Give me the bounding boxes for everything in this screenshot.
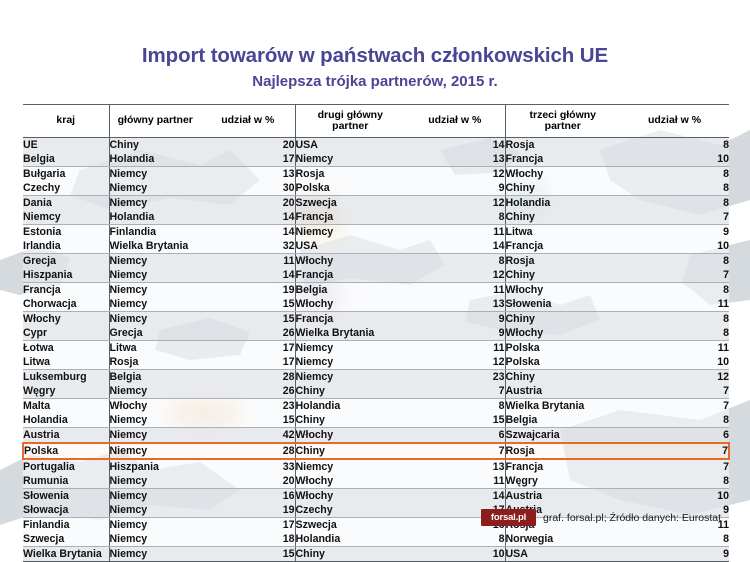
cell-partner-2: Włochy bbox=[295, 489, 405, 504]
table-row: RumuniaNiemcy20Włochy11Węgry8 bbox=[23, 474, 729, 489]
cell-partner-2: Chiny bbox=[295, 547, 405, 562]
cell-share-2: 9 bbox=[405, 326, 505, 341]
cell-partner-2: Włochy bbox=[295, 428, 405, 444]
cell-country: Bułgaria bbox=[23, 167, 109, 182]
cell-country: Belgia bbox=[23, 152, 109, 167]
cell-share-2: 11 bbox=[405, 341, 505, 356]
cell-share-2: 15 bbox=[405, 413, 505, 428]
cell-partner-1: Finlandia bbox=[109, 225, 201, 240]
cell-share-2: 8 bbox=[405, 210, 505, 225]
table-row: WłochyNiemcy15Francja9Chiny8 bbox=[23, 312, 729, 327]
cell-share-3: 8 bbox=[620, 138, 729, 153]
cell-share-3: 8 bbox=[620, 326, 729, 341]
cell-partner-3: Francja bbox=[505, 239, 620, 254]
cell-partner-3: Chiny bbox=[505, 268, 620, 283]
table-row: FrancjaNiemcy19Belgia11Włochy8 bbox=[23, 283, 729, 298]
cell-partner-1: Włochy bbox=[109, 399, 201, 414]
cell-share-1: 20 bbox=[201, 138, 295, 153]
cell-share-1: 42 bbox=[201, 428, 295, 444]
table-row: LuksemburgBelgia28Niemcy23Chiny12 bbox=[23, 370, 729, 385]
cell-share-2: 13 bbox=[405, 297, 505, 312]
table-row: WęgryNiemcy26Chiny7Austria7 bbox=[23, 384, 729, 399]
cell-share-3: 8 bbox=[620, 413, 729, 428]
cell-partner-2: Niemcy bbox=[295, 341, 405, 356]
cell-country: UE bbox=[23, 138, 109, 153]
source-credit: graf. forsal.pl; Źródło danych: Eurostat bbox=[543, 510, 721, 526]
cell-share-2: 11 bbox=[405, 283, 505, 298]
cell-country: Chorwacja bbox=[23, 297, 109, 312]
cell-share-3: 12 bbox=[620, 370, 729, 385]
table-head: kraj główny partner udział w % drugi głó… bbox=[23, 105, 729, 138]
table-row: GrecjaNiemcy11Włochy8Rosja8 bbox=[23, 254, 729, 269]
cell-share-2: 9 bbox=[405, 181, 505, 196]
cell-partner-2: Niemcy bbox=[295, 355, 405, 370]
table-row: ChorwacjaNiemcy15Włochy13Słowenia11 bbox=[23, 297, 729, 312]
cell-country: Malta bbox=[23, 399, 109, 414]
cell-partner-3: Węgry bbox=[505, 474, 620, 489]
cell-share-1: 11 bbox=[201, 254, 295, 269]
header-share-3: udział w % bbox=[620, 105, 729, 138]
cell-share-3: 8 bbox=[620, 181, 729, 196]
cell-share-3: 7 bbox=[620, 443, 729, 459]
cell-share-2: 9 bbox=[405, 312, 505, 327]
cell-share-3: 11 bbox=[620, 341, 729, 356]
cell-partner-1: Chiny bbox=[109, 138, 201, 153]
cell-partner-1: Niemcy bbox=[109, 297, 201, 312]
cell-partner-3: Rosja bbox=[505, 138, 620, 153]
cell-partner-2: Chiny bbox=[295, 443, 405, 459]
table-row: CzechyNiemcy30Polska9Chiny8 bbox=[23, 181, 729, 196]
cell-partner-2: Szwecja bbox=[295, 196, 405, 211]
cell-partner-3: Holandia bbox=[505, 196, 620, 211]
cell-share-2: 13 bbox=[405, 459, 505, 474]
cell-partner-3: USA bbox=[505, 547, 620, 562]
cell-partner-1: Holandia bbox=[109, 152, 201, 167]
table-row: Wielka BrytaniaNiemcy15Chiny10USA9 bbox=[23, 547, 729, 562]
cell-partner-1: Rosja bbox=[109, 355, 201, 370]
cell-partner-2: Włochy bbox=[295, 474, 405, 489]
cell-partner-2: Włochy bbox=[295, 297, 405, 312]
table-row: CyprGrecja26Wielka Brytania9Włochy8 bbox=[23, 326, 729, 341]
cell-partner-2: Polska bbox=[295, 181, 405, 196]
cell-partner-3: Włochy bbox=[505, 167, 620, 182]
cell-partner-3: Rosja bbox=[505, 254, 620, 269]
cell-partner-1: Niemcy bbox=[109, 428, 201, 444]
cell-share-1: 17 bbox=[201, 152, 295, 167]
page-title: Import towarów w państwach członkowskich… bbox=[0, 44, 750, 68]
cell-share-1: 14 bbox=[201, 210, 295, 225]
cell-share-1: 23 bbox=[201, 399, 295, 414]
cell-share-2: 8 bbox=[405, 254, 505, 269]
cell-share-1: 14 bbox=[201, 268, 295, 283]
header-share-2: udział w % bbox=[405, 105, 505, 138]
table-row: DaniaNiemcy20Szwecja12Holandia8 bbox=[23, 196, 729, 211]
cell-share-3: 8 bbox=[620, 283, 729, 298]
cell-share-2: 13 bbox=[405, 152, 505, 167]
cell-share-2: 12 bbox=[405, 355, 505, 370]
cell-partner-2: Niemcy bbox=[295, 459, 405, 474]
cell-partner-2: Chiny bbox=[295, 413, 405, 428]
table-row: HolandiaNiemcy15Chiny15Belgia8 bbox=[23, 413, 729, 428]
cell-partner-3: Polska bbox=[505, 341, 620, 356]
cell-country: Łotwa bbox=[23, 341, 109, 356]
cell-share-1: 15 bbox=[201, 413, 295, 428]
cell-partner-1: Grecja bbox=[109, 326, 201, 341]
cell-country: Grecja bbox=[23, 254, 109, 269]
cell-share-2: 14 bbox=[405, 138, 505, 153]
header-partner-1: główny partner bbox=[109, 105, 201, 138]
cell-share-3: 8 bbox=[620, 312, 729, 327]
cell-partner-3: Chiny bbox=[505, 181, 620, 196]
cell-partner-3: Chiny bbox=[505, 370, 620, 385]
cell-share-3: 7 bbox=[620, 459, 729, 474]
cell-share-3: 10 bbox=[620, 152, 729, 167]
cell-country: Hiszpania bbox=[23, 268, 109, 283]
cell-partner-2: Francja bbox=[295, 268, 405, 283]
cell-share-1: 14 bbox=[201, 225, 295, 240]
cell-partner-3: Szwajcaria bbox=[505, 428, 620, 444]
cell-partner-2: Niemcy bbox=[295, 370, 405, 385]
cell-country: Polska bbox=[23, 443, 109, 459]
cell-share-2: 11 bbox=[405, 225, 505, 240]
cell-share-1: 32 bbox=[201, 239, 295, 254]
footer: forsal.pl graf. forsal.pl; Źródło danych… bbox=[0, 506, 750, 536]
table-row: ŁotwaLitwa17Niemcy11Polska11 bbox=[23, 341, 729, 356]
cell-partner-1: Niemcy bbox=[109, 547, 201, 562]
cell-share-2: 8 bbox=[405, 399, 505, 414]
cell-country: Francja bbox=[23, 283, 109, 298]
table-row: HiszpaniaNiemcy14Francja12Chiny7 bbox=[23, 268, 729, 283]
table-header-row: kraj główny partner udział w % drugi głó… bbox=[23, 105, 729, 138]
cell-partner-1: Niemcy bbox=[109, 196, 201, 211]
cell-partner-3: Austria bbox=[505, 384, 620, 399]
cell-share-3: 7 bbox=[620, 399, 729, 414]
cell-share-3: 7 bbox=[620, 384, 729, 399]
cell-share-1: 20 bbox=[201, 196, 295, 211]
cell-partner-3: Francja bbox=[505, 459, 620, 474]
header-country: kraj bbox=[23, 105, 109, 138]
page-subtitle: Najlepsza trójka partnerów, 2015 r. bbox=[0, 73, 750, 90]
cell-partner-3: Słowenia bbox=[505, 297, 620, 312]
cell-country: Węgry bbox=[23, 384, 109, 399]
cell-country: Rumunia bbox=[23, 474, 109, 489]
cell-share-3: 7 bbox=[620, 210, 729, 225]
cell-partner-3: Polska bbox=[505, 355, 620, 370]
cell-share-1: 28 bbox=[201, 443, 295, 459]
cell-share-3: 9 bbox=[620, 547, 729, 562]
cell-share-2: 7 bbox=[405, 443, 505, 459]
cell-country: Słowenia bbox=[23, 489, 109, 504]
cell-share-1: 17 bbox=[201, 341, 295, 356]
cell-partner-2: USA bbox=[295, 138, 405, 153]
header-share-1: udział w % bbox=[201, 105, 295, 138]
cell-share-3: 8 bbox=[620, 254, 729, 269]
cell-share-1: 26 bbox=[201, 326, 295, 341]
table-row: MaltaWłochy23Holandia8Wielka Brytania7 bbox=[23, 399, 729, 414]
cell-partner-3: Belgia bbox=[505, 413, 620, 428]
cell-partner-3: Francja bbox=[505, 152, 620, 167]
cell-share-3: 8 bbox=[620, 474, 729, 489]
cell-partner-1: Niemcy bbox=[109, 268, 201, 283]
cell-partner-2: Niemcy bbox=[295, 152, 405, 167]
table-row: UEChiny20USA14Rosja8 bbox=[23, 138, 729, 153]
cell-partner-1: Niemcy bbox=[109, 474, 201, 489]
table-row: EstoniaFinlandia14Niemcy11Litwa9 bbox=[23, 225, 729, 240]
cell-partner-3: Wielka Brytania bbox=[505, 399, 620, 414]
cell-share-3: 8 bbox=[620, 196, 729, 211]
cell-partner-2: Francja bbox=[295, 210, 405, 225]
cell-share-3: 10 bbox=[620, 355, 729, 370]
title-block: Import towarów w państwach członkowskich… bbox=[0, 44, 750, 90]
header-partner-2: drugi główny partner bbox=[295, 105, 405, 138]
cell-partner-3: Włochy bbox=[505, 283, 620, 298]
cell-share-2: 12 bbox=[405, 268, 505, 283]
cell-share-3: 10 bbox=[620, 489, 729, 504]
cell-share-2: 10 bbox=[405, 547, 505, 562]
cell-share-1: 30 bbox=[201, 181, 295, 196]
cell-share-2: 7 bbox=[405, 384, 505, 399]
cell-partner-3: Chiny bbox=[505, 312, 620, 327]
cell-share-3: 11 bbox=[620, 297, 729, 312]
forsal-logo: forsal.pl bbox=[481, 509, 536, 526]
table-body: UEChiny20USA14Rosja8BelgiaHolandia17Niem… bbox=[23, 138, 729, 562]
infographic-page: Import towarów w państwach członkowskich… bbox=[0, 0, 750, 540]
cell-share-2: 12 bbox=[405, 196, 505, 211]
cell-share-1: 26 bbox=[201, 384, 295, 399]
table-row: PortugaliaHiszpania33Niemcy13Francja7 bbox=[23, 459, 729, 474]
cell-share-3: 9 bbox=[620, 225, 729, 240]
cell-country: Estonia bbox=[23, 225, 109, 240]
table-row: NiemcyHolandia14Francja8Chiny7 bbox=[23, 210, 729, 225]
cell-country: Luksemburg bbox=[23, 370, 109, 385]
cell-share-1: 16 bbox=[201, 489, 295, 504]
cell-share-1: 28 bbox=[201, 370, 295, 385]
cell-country: Niemcy bbox=[23, 210, 109, 225]
cell-share-3: 8 bbox=[620, 167, 729, 182]
cell-share-1: 17 bbox=[201, 355, 295, 370]
cell-share-3: 7 bbox=[620, 268, 729, 283]
table-row: BelgiaHolandia17Niemcy13Francja10 bbox=[23, 152, 729, 167]
cell-country: Litwa bbox=[23, 355, 109, 370]
cell-country: Irlandia bbox=[23, 239, 109, 254]
cell-share-3: 6 bbox=[620, 428, 729, 444]
table-row: AustriaNiemcy42Włochy6Szwajcaria6 bbox=[23, 428, 729, 444]
cell-partner-1: Niemcy bbox=[109, 283, 201, 298]
table-row: SłoweniaNiemcy16Włochy14Austria10 bbox=[23, 489, 729, 504]
cell-partner-1: Niemcy bbox=[109, 489, 201, 504]
cell-partner-2: Niemcy bbox=[295, 225, 405, 240]
cell-partner-1: Niemcy bbox=[109, 413, 201, 428]
cell-partner-1: Wielka Brytania bbox=[109, 239, 201, 254]
cell-partner-2: USA bbox=[295, 239, 405, 254]
cell-partner-1: Niemcy bbox=[109, 254, 201, 269]
cell-partner-1: Niemcy bbox=[109, 443, 201, 459]
cell-share-2: 14 bbox=[405, 489, 505, 504]
cell-partner-2: Rosja bbox=[295, 167, 405, 182]
cell-share-1: 20 bbox=[201, 474, 295, 489]
header-partner-3-line2: partner bbox=[545, 120, 581, 132]
cell-country: Czechy bbox=[23, 181, 109, 196]
cell-country: Wielka Brytania bbox=[23, 547, 109, 562]
cell-share-2: 11 bbox=[405, 474, 505, 489]
cell-partner-2: Wielka Brytania bbox=[295, 326, 405, 341]
cell-partner-2: Belgia bbox=[295, 283, 405, 298]
cell-country: Cypr bbox=[23, 326, 109, 341]
cell-partner-1: Niemcy bbox=[109, 312, 201, 327]
cell-partner-1: Hiszpania bbox=[109, 459, 201, 474]
cell-partner-2: Chiny bbox=[295, 384, 405, 399]
cell-partner-2: Holandia bbox=[295, 399, 405, 414]
data-table-container: kraj główny partner udział w % drugi głó… bbox=[22, 104, 728, 562]
cell-partner-3: Rosja bbox=[505, 443, 620, 459]
cell-partner-2: Francja bbox=[295, 312, 405, 327]
cell-country: Austria bbox=[23, 428, 109, 444]
cell-partner-3: Chiny bbox=[505, 210, 620, 225]
cell-partner-1: Niemcy bbox=[109, 384, 201, 399]
cell-country: Dania bbox=[23, 196, 109, 211]
cell-share-1: 15 bbox=[201, 312, 295, 327]
cell-country: Włochy bbox=[23, 312, 109, 327]
header-partner-3: trzeci główny partner bbox=[505, 105, 620, 138]
cell-share-1: 33 bbox=[201, 459, 295, 474]
cell-share-2: 23 bbox=[405, 370, 505, 385]
cell-partner-2: Włochy bbox=[295, 254, 405, 269]
header-partner-2-line2: partner bbox=[332, 120, 368, 132]
cell-share-2: 12 bbox=[405, 167, 505, 182]
cell-share-1: 13 bbox=[201, 167, 295, 182]
table-row: IrlandiaWielka Brytania32USA14Francja10 bbox=[23, 239, 729, 254]
cell-partner-1: Niemcy bbox=[109, 181, 201, 196]
cell-country: Holandia bbox=[23, 413, 109, 428]
cell-share-1: 15 bbox=[201, 547, 295, 562]
cell-partner-1: Holandia bbox=[109, 210, 201, 225]
table-row: LitwaRosja17Niemcy12Polska10 bbox=[23, 355, 729, 370]
cell-partner-1: Belgia bbox=[109, 370, 201, 385]
cell-partner-1: Litwa bbox=[109, 341, 201, 356]
import-partners-table: kraj główny partner udział w % drugi głó… bbox=[22, 104, 730, 562]
table-row: BułgariaNiemcy13Rosja12Włochy8 bbox=[23, 167, 729, 182]
cell-share-3: 10 bbox=[620, 239, 729, 254]
cell-share-2: 6 bbox=[405, 428, 505, 444]
cell-partner-3: Litwa bbox=[505, 225, 620, 240]
cell-country: Portugalia bbox=[23, 459, 109, 474]
cell-partner-3: Austria bbox=[505, 489, 620, 504]
table-row: PolskaNiemcy28Chiny7Rosja7 bbox=[23, 443, 729, 459]
cell-share-1: 15 bbox=[201, 297, 295, 312]
cell-partner-1: Niemcy bbox=[109, 167, 201, 182]
cell-share-2: 14 bbox=[405, 239, 505, 254]
cell-partner-3: Włochy bbox=[505, 326, 620, 341]
cell-share-1: 19 bbox=[201, 283, 295, 298]
